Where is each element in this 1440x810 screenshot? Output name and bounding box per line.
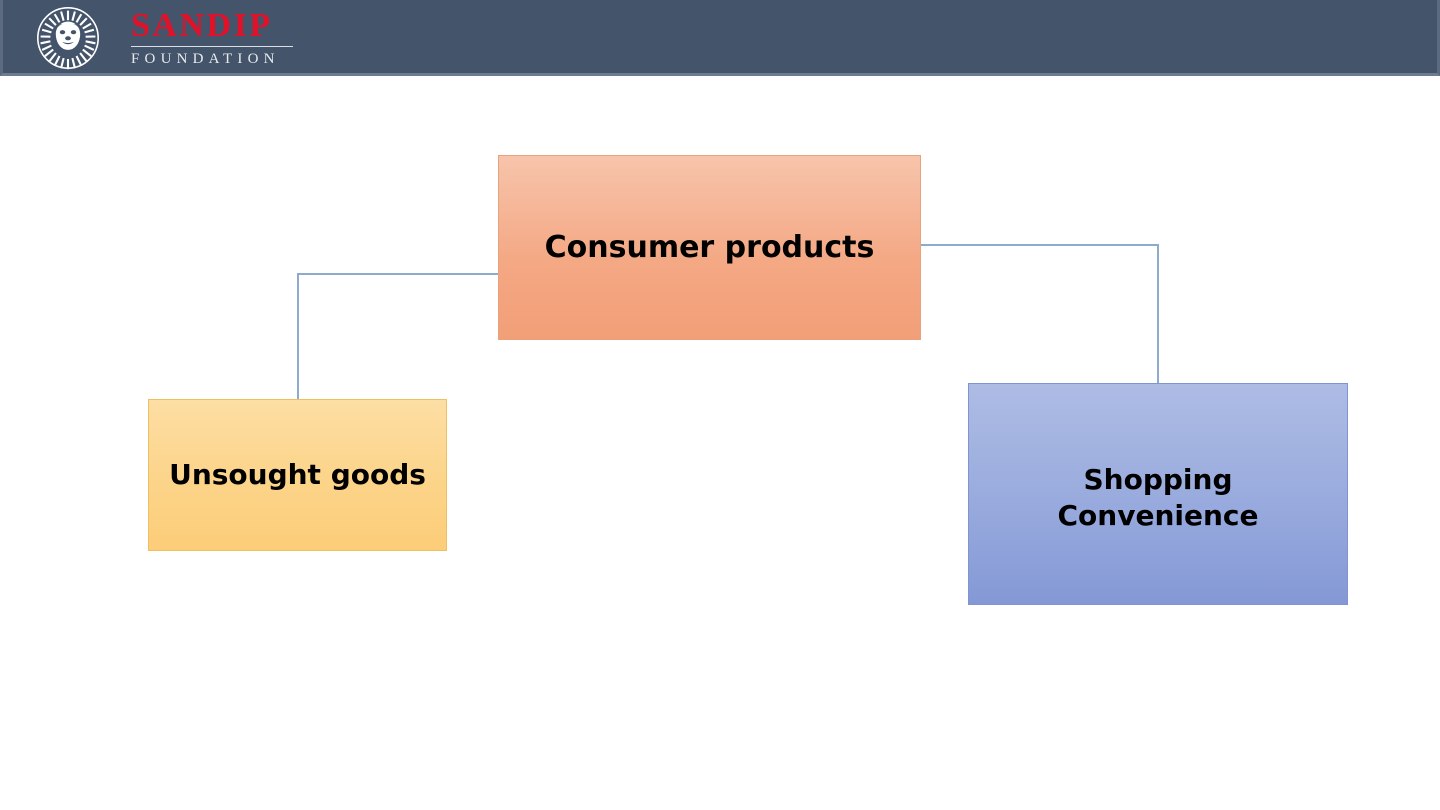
node-unsought-goods-label: Unsought goods — [149, 458, 446, 492]
node-shopping-convenience[interactable]: Shopping Convenience — [968, 383, 1348, 605]
brand-logo: SANDIP FOUNDATION — [36, 4, 276, 72]
node-shopping-convenience-line1: Shopping — [1084, 463, 1233, 496]
connector-consumer-to-shopping-horizontal — [919, 244, 1159, 246]
brand-subtitle: FOUNDATION — [131, 49, 280, 69]
lion-head-circle-icon — [36, 6, 100, 70]
brand-name: SANDIP — [131, 7, 273, 45]
node-shopping-convenience-line2: Convenience — [1057, 499, 1258, 532]
node-unsought-goods[interactable]: Unsought goods — [148, 399, 447, 551]
connector-consumer-to-unsought-vertical — [297, 273, 299, 400]
node-consumer-products-label: Consumer products — [499, 230, 920, 266]
node-consumer-products[interactable]: Consumer products — [498, 155, 921, 340]
brand-wordmark: SANDIP FOUNDATION — [100, 6, 276, 68]
node-shopping-convenience-label: Shopping Convenience — [969, 462, 1347, 534]
connector-consumer-to-shopping-vertical — [1157, 244, 1159, 384]
brand-divider — [131, 46, 293, 47]
connector-consumer-to-unsought-horizontal — [297, 273, 500, 275]
slide-canvas: SANDIP FOUNDATION Consumer products Unso… — [0, 0, 1440, 810]
header-bar: SANDIP FOUNDATION — [0, 0, 1440, 76]
